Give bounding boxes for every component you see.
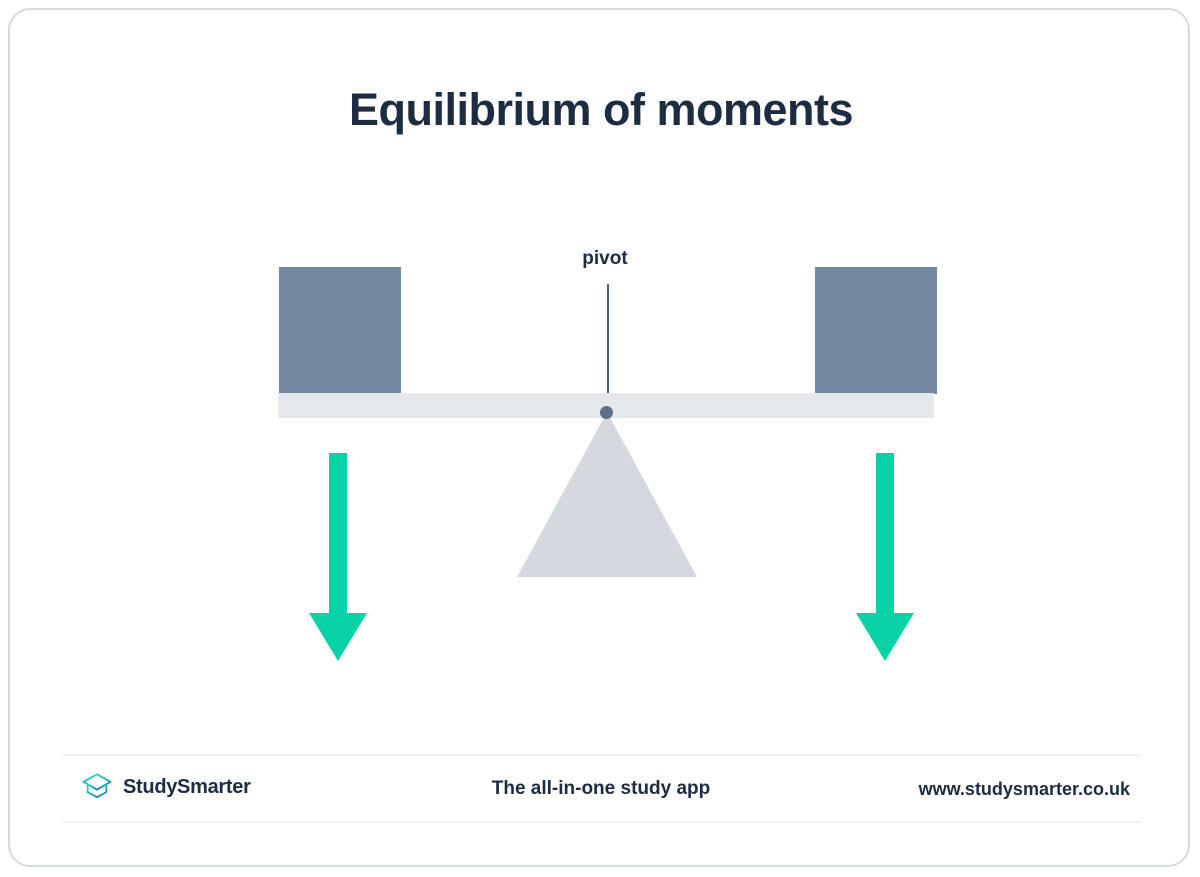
right-force-arrow-icon xyxy=(855,453,915,663)
diagram-stage: pivot xyxy=(10,10,1192,770)
left-force-arrow-icon xyxy=(308,453,368,663)
right-mass-block xyxy=(815,267,937,394)
pivot-label: pivot xyxy=(505,248,705,270)
pivot-point-dot xyxy=(600,406,613,419)
footer-divider-bottom xyxy=(62,821,1140,823)
left-mass-block xyxy=(279,267,401,394)
fulcrum-triangle xyxy=(517,412,697,577)
footer-url: www.studysmarter.co.uk xyxy=(919,779,1130,800)
footer: StudySmarter The all-in-one study app ww… xyxy=(10,756,1192,821)
diagram-card: Equilibrium of moments pivot xyxy=(8,8,1190,867)
